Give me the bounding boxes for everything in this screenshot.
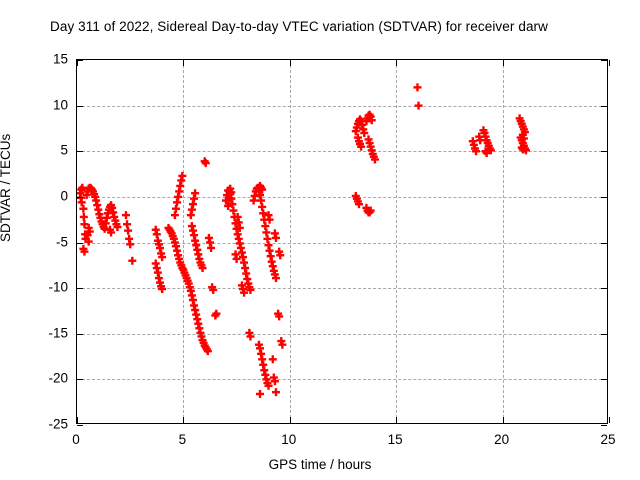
y-axis-tick-label: -10 — [28, 280, 68, 295]
y-axis-tick — [77, 151, 83, 152]
data-point-marker — [122, 211, 130, 219]
data-point-marker — [272, 388, 280, 396]
y-axis-tick — [77, 334, 83, 335]
y-axis-tick-label: 0 — [28, 188, 68, 203]
y-axis-tick — [601, 197, 607, 198]
x-axis-tick — [503, 417, 504, 423]
x-axis-tick — [503, 60, 504, 66]
x-axis-tick — [290, 60, 291, 66]
y-axis-tick-label: 15 — [28, 52, 68, 67]
data-point-marker — [415, 102, 423, 110]
data-point-marker — [269, 355, 277, 363]
x-axis-tick-label: 10 — [269, 432, 309, 447]
x-axis-tick — [77, 417, 78, 423]
x-axis-tick — [77, 60, 78, 66]
data-point-marker — [124, 227, 132, 235]
x-axis-tick-label: 20 — [482, 432, 522, 447]
y-axis-tick — [77, 379, 83, 380]
data-point-marker — [272, 234, 280, 242]
y-axis-tick — [601, 379, 607, 380]
x-axis-tick — [396, 417, 397, 423]
data-points-svg — [77, 60, 609, 425]
y-axis-tick — [601, 243, 607, 244]
y-axis-tick-label: 10 — [28, 97, 68, 112]
page-title: Day 311 of 2022, Sidereal Day-to-day VTE… — [50, 19, 548, 34]
x-axis-tick-label: 15 — [375, 432, 415, 447]
data-point-marker — [256, 390, 264, 398]
data-point-marker — [126, 240, 134, 248]
data-point-marker — [178, 172, 186, 180]
y-axis-tick — [601, 334, 607, 335]
x-axis-tick — [290, 417, 291, 423]
data-point-marker — [413, 83, 421, 91]
y-axis-tick — [601, 288, 607, 289]
y-axis-tick — [77, 288, 83, 289]
data-point-marker — [207, 244, 215, 252]
y-axis-tick — [77, 106, 83, 107]
y-axis-tick — [601, 425, 607, 426]
data-point-marker — [266, 216, 274, 224]
x-axis-tick — [396, 60, 397, 66]
y-axis-tick — [77, 197, 83, 198]
y-axis-tick-label: -25 — [28, 417, 68, 432]
data-point-marker — [80, 213, 88, 221]
x-axis-tick-label: 5 — [162, 432, 202, 447]
x-axis-tick-label: 25 — [588, 432, 628, 447]
chart-canvas: Day 311 of 2022, Sidereal Day-to-day VTE… — [0, 0, 640, 480]
x-axis-tick-label: 0 — [56, 432, 96, 447]
y-axis-tick — [77, 425, 83, 426]
y-axis-title: SDTVAR / TECUs — [0, 134, 13, 242]
y-axis-tick — [601, 60, 607, 61]
y-axis-tick-label: -15 — [28, 325, 68, 340]
x-axis-tick — [183, 60, 184, 66]
y-axis-tick — [601, 151, 607, 152]
y-axis-tick — [77, 243, 83, 244]
x-axis-tick — [609, 60, 610, 66]
scatter-series — [77, 60, 607, 423]
y-axis-tick-label: -20 — [28, 371, 68, 386]
data-point-marker — [191, 189, 199, 197]
x-axis-title: GPS time / hours — [0, 457, 640, 472]
y-axis-tick — [601, 106, 607, 107]
plot-area — [76, 59, 608, 424]
data-point-marker — [128, 257, 136, 265]
y-axis-tick-label: -5 — [28, 234, 68, 249]
x-axis-tick — [183, 417, 184, 423]
y-axis-tick-label: 5 — [28, 143, 68, 158]
x-axis-tick — [609, 417, 610, 423]
